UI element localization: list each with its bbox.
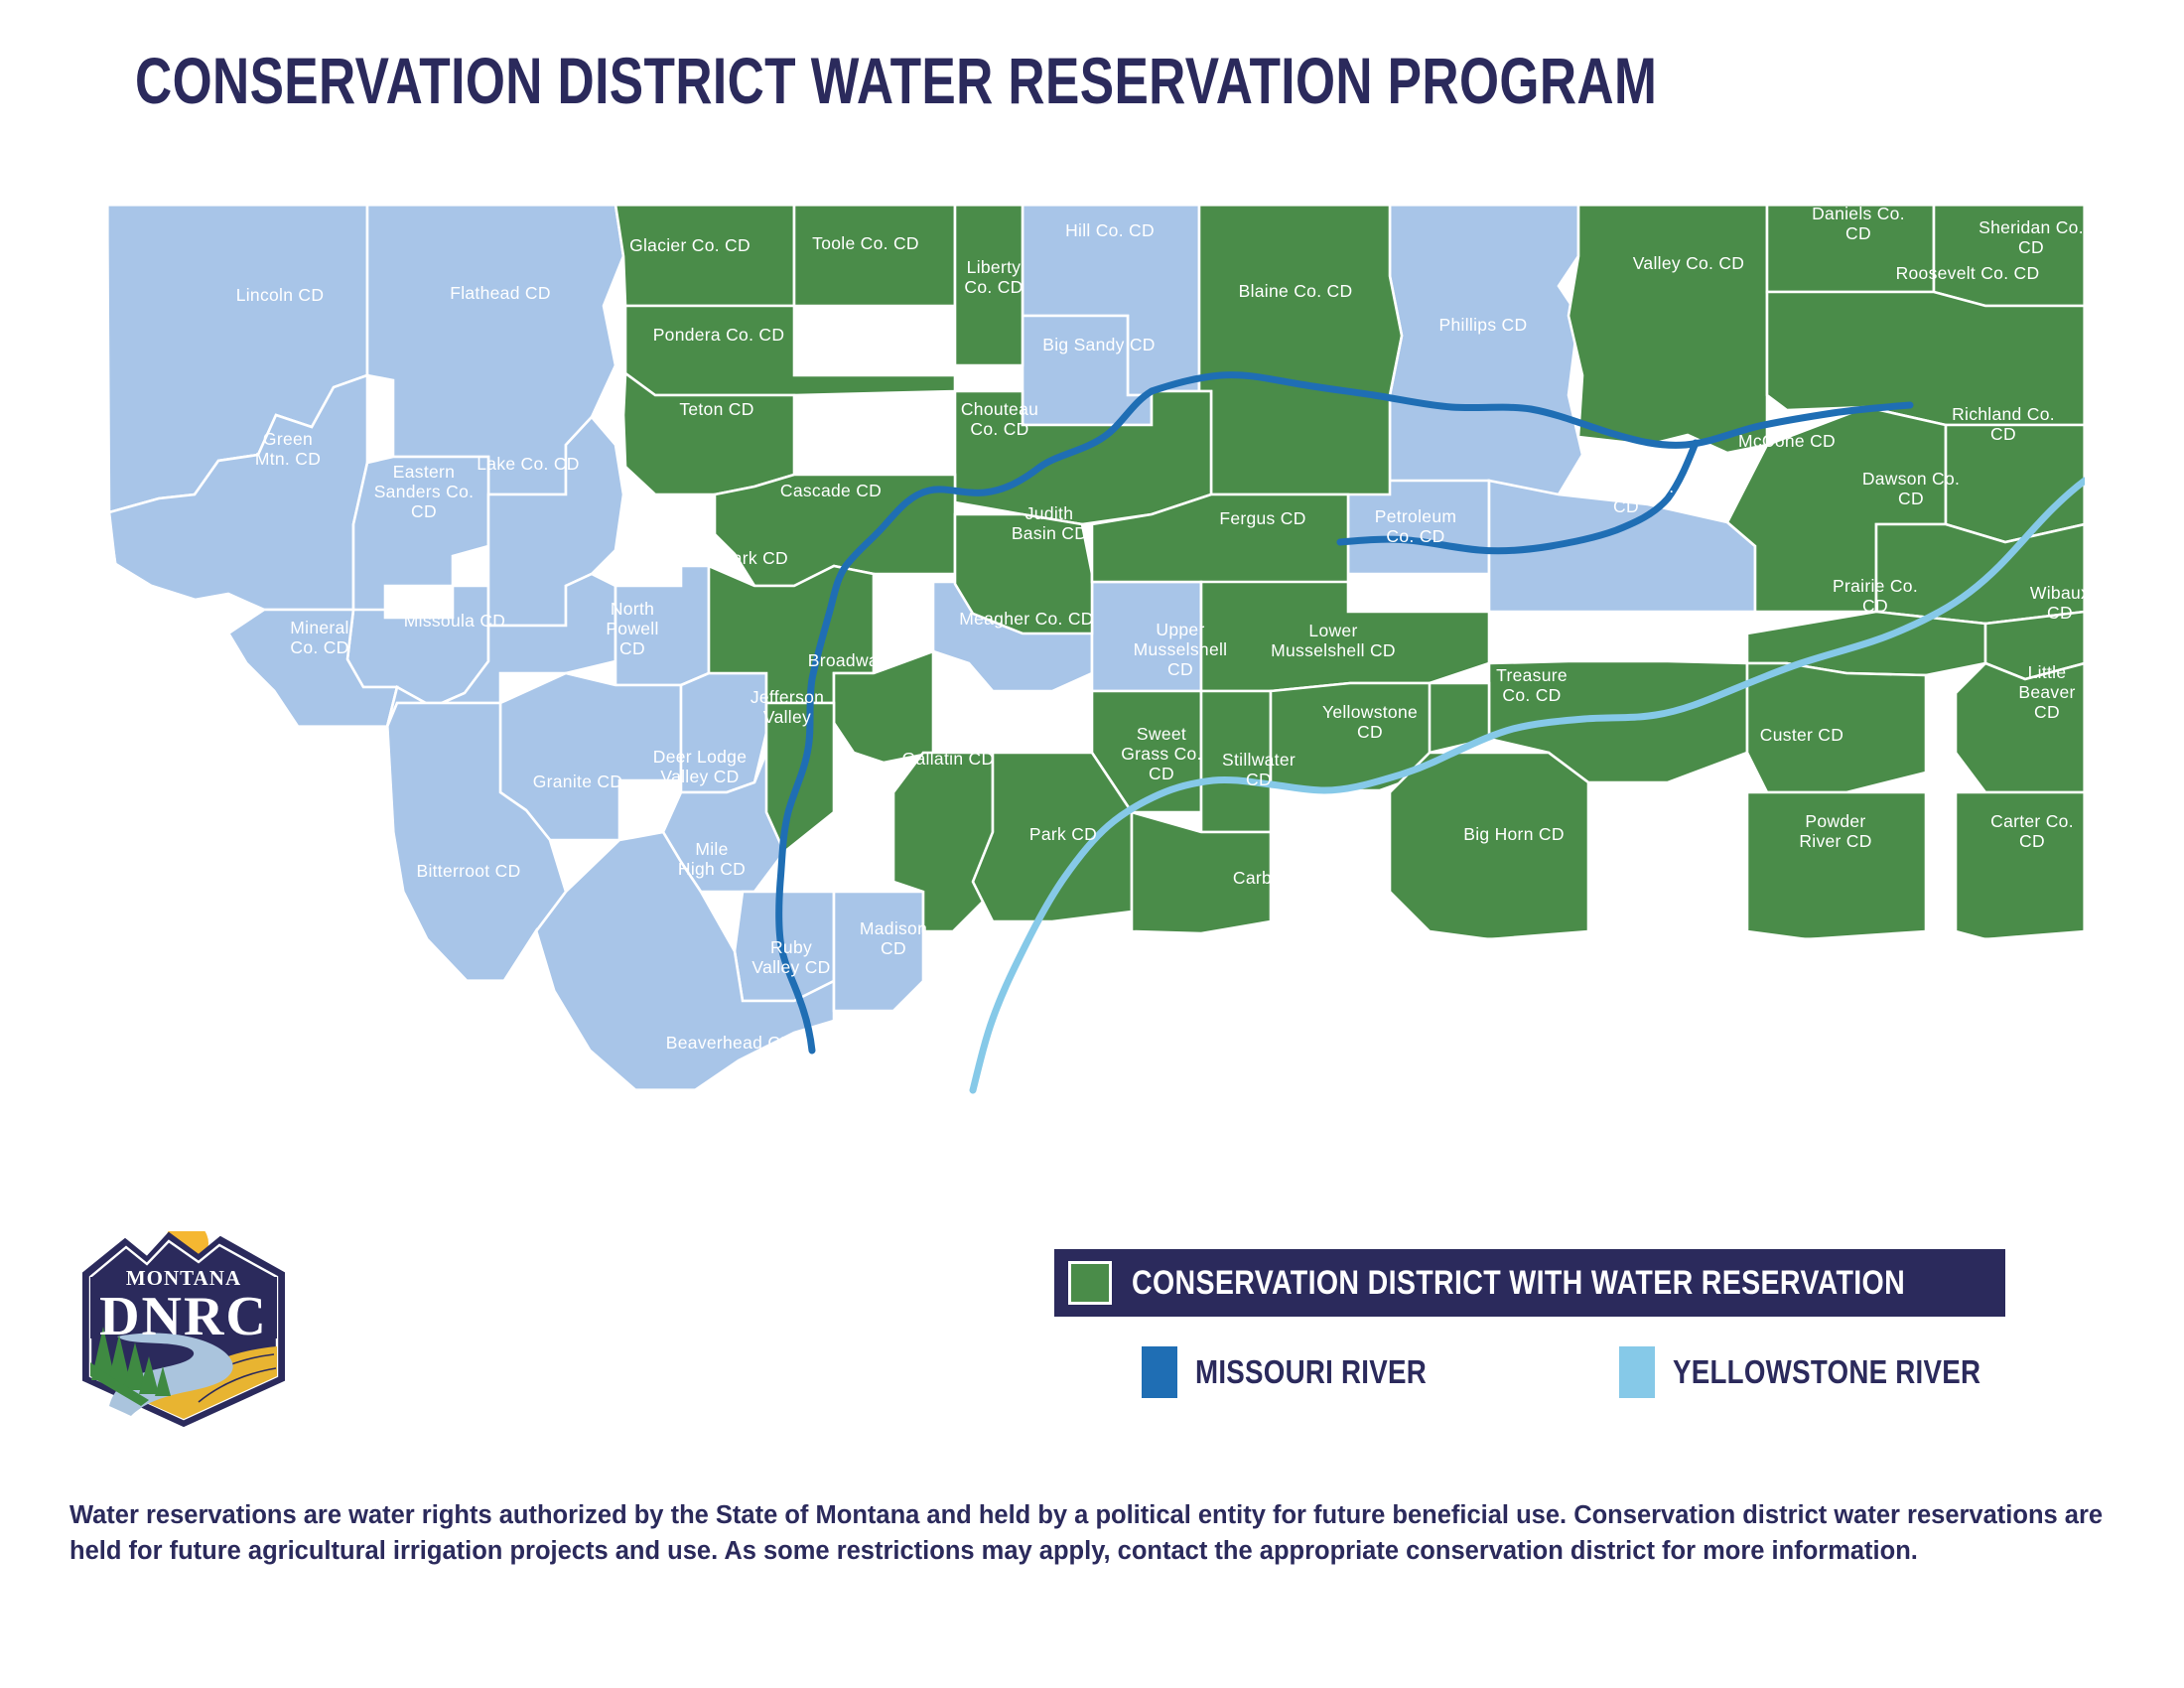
page-title: CONSERVATION DISTRICT WATER RESERVATION … — [135, 44, 1684, 117]
districts-not-reserved — [107, 205, 1755, 1090]
legend-missouri-swatch — [1142, 1346, 1177, 1398]
district-deer-lodge-valley[interactable] — [681, 673, 766, 792]
footer-note: Water reservations are water rights auth… — [69, 1497, 2115, 1569]
legend-reserved-label: CONSERVATION DISTRICT WITH WATER RESERVA… — [1132, 1264, 1905, 1303]
district-big-horn[interactable] — [1390, 753, 1588, 939]
montana-map[interactable]: Lincoln CDFlathead CDGreenMtn. CDEastern… — [99, 197, 2085, 1219]
montana-map-container: Lincoln CDFlathead CDGreenMtn. CDEastern… — [99, 197, 2085, 1219]
legend-reserved-district: CONSERVATION DISTRICT WITH WATER RESERVA… — [1054, 1249, 2005, 1317]
district-valley-co[interactable] — [1569, 205, 1767, 453]
district-little-beaver[interactable] — [1956, 663, 2085, 792]
legend-yellowstone-swatch — [1619, 1346, 1655, 1398]
district-label-rosebud: Rosebud CD — [1578, 623, 1681, 642]
legend-item-missouri-river: MISSOURI RIVER — [1142, 1346, 1470, 1398]
legend-item-yellowstone-river: YELLOWSTONE RIVER — [1619, 1346, 2039, 1398]
district-dawson-co[interactable] — [1876, 524, 2085, 624]
district-richland-co[interactable] — [1946, 425, 2085, 542]
district-sheridan-co[interactable] — [1934, 205, 2085, 306]
district-toole-co[interactable] — [794, 205, 955, 306]
legend-yellowstone-label: YELLOWSTONE RIVER — [1673, 1353, 1980, 1391]
district-stillwater[interactable] — [1201, 691, 1271, 832]
legend-missouri-label: MISSOURI RIVER — [1195, 1353, 1427, 1391]
district-judith-basin[interactable] — [955, 514, 1092, 633]
logo-dnrc-text: DNRC — [99, 1286, 268, 1347]
district-carter-co[interactable] — [1956, 792, 2085, 939]
legend-rivers: MISSOURI RIVER YELLOWSTONE RIVER — [1142, 1342, 2015, 1402]
district-lower-musselshell[interactable] — [1201, 582, 1489, 691]
district-upper-musselshell[interactable] — [1092, 582, 1201, 691]
district-daniels-co[interactable] — [1767, 205, 1934, 292]
district-roosevelt-co[interactable] — [1767, 292, 2085, 425]
district-phillips[interactable] — [1390, 205, 1582, 494]
district-pondera-co[interactable] — [625, 306, 955, 395]
district-powder-river[interactable] — [1747, 792, 1926, 939]
montana-dnrc-logo: MONTANA DNRC — [69, 1231, 298, 1430]
district-north-powell[interactable] — [615, 566, 709, 685]
district-liberty-co[interactable] — [955, 205, 1023, 365]
district-blaine-co[interactable] — [1199, 205, 1402, 494]
district-madison[interactable] — [834, 892, 923, 1011]
district-glacier-co[interactable] — [615, 205, 794, 306]
district-custer[interactable] — [1747, 663, 1926, 792]
legend-green-swatch — [1068, 1261, 1112, 1305]
